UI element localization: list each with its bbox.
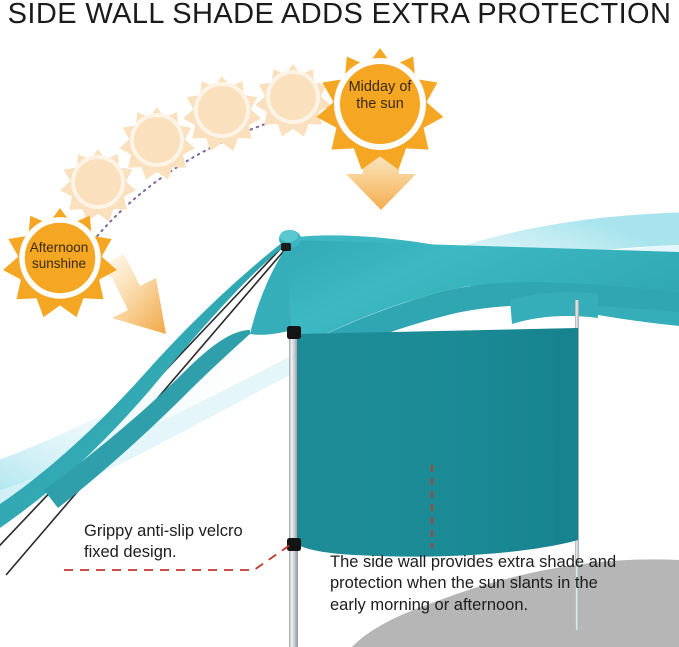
- faded-sun-1: [60, 149, 136, 222]
- midday-sun-icon: [317, 48, 444, 170]
- callout-sidewall-text: The side wall provides extra shade and p…: [330, 552, 670, 616]
- faded-sun-3: [183, 76, 261, 151]
- callout-velcro-text: Grippy anti-slip velcro fixed design.: [84, 521, 324, 564]
- infographic-root: SIDE WALL SHADE ADDS EXTRA PROTECTION Mi…: [0, 0, 679, 647]
- faded-sun-4: [255, 64, 331, 137]
- left-pole: [289, 330, 298, 647]
- afternoon-sun-icon: [3, 208, 117, 317]
- page-title: SIDE WALL SHADE ADDS EXTRA PROTECTION: [0, 0, 679, 31]
- faded-sun-trail: [60, 64, 331, 222]
- side-wall-panel: [297, 328, 578, 557]
- faded-sun-2: [119, 107, 195, 180]
- velcro-patch-upper: [287, 326, 301, 339]
